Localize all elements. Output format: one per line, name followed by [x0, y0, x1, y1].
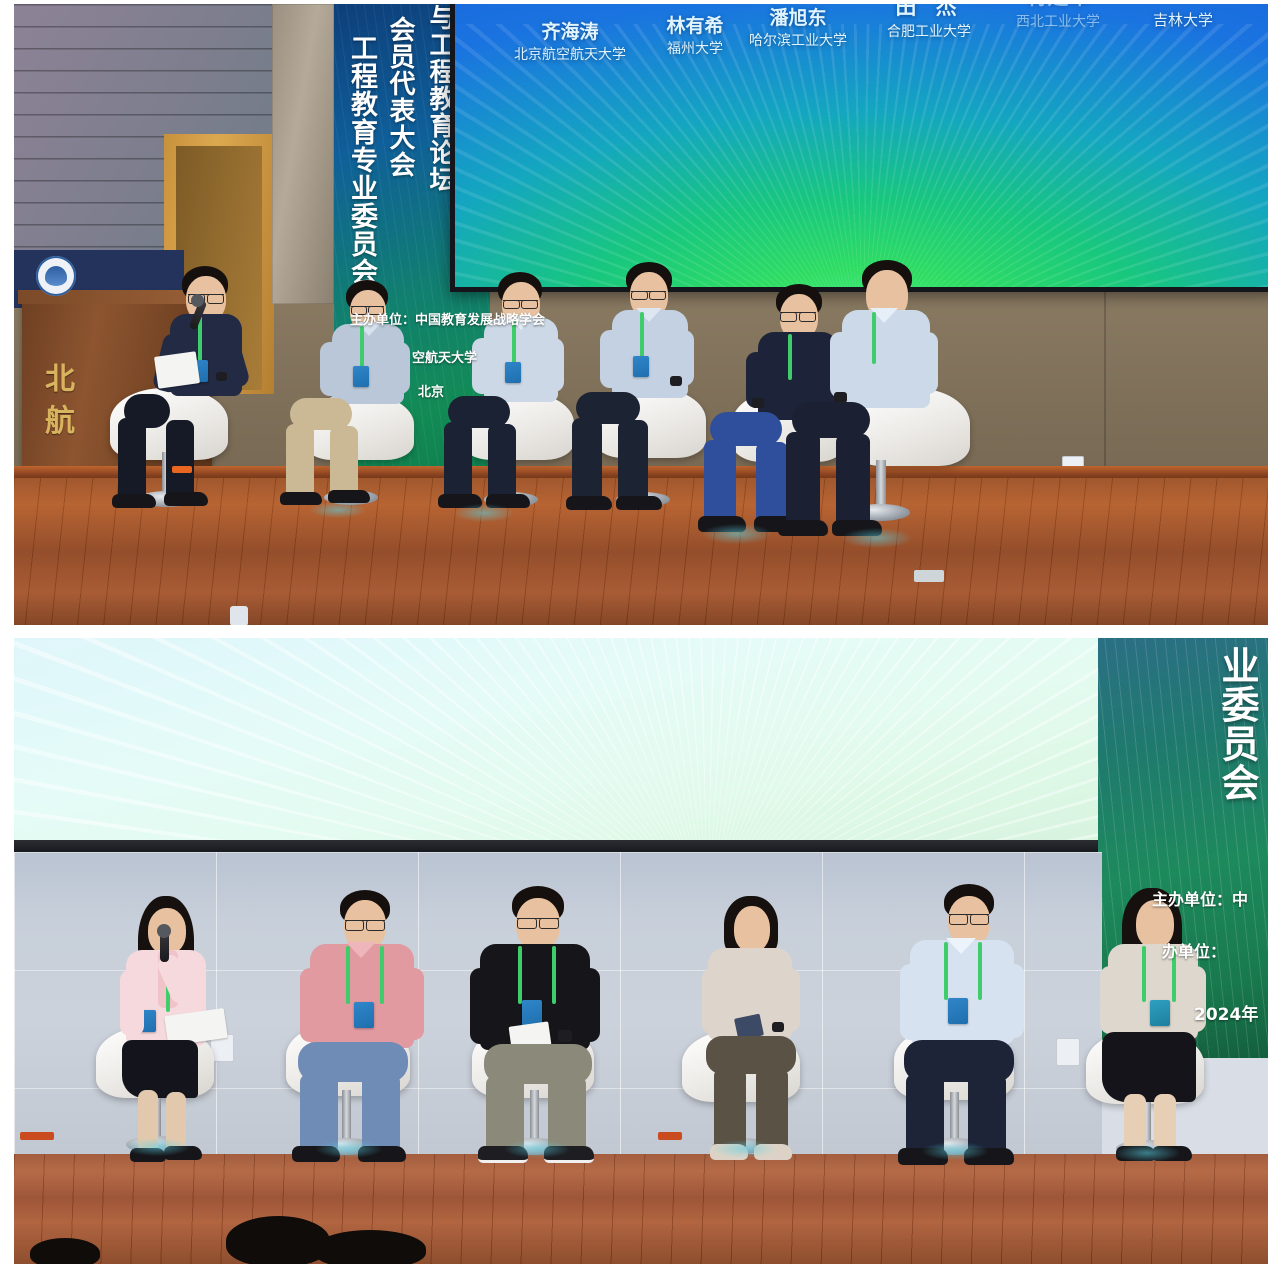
lower-leg [572, 418, 602, 502]
skirt [1102, 1032, 1196, 1102]
banner-host-line: 主办单位：中国教育发展战略学会 [350, 309, 545, 328]
arm [470, 968, 496, 1044]
wristwatch [670, 376, 682, 386]
glasses-icon [949, 914, 989, 925]
wall-outlet [1056, 1038, 1080, 1066]
arm [542, 338, 564, 392]
arm [914, 332, 938, 394]
floor-device [230, 606, 248, 625]
banner-column-1: 业委员会 [1210, 646, 1265, 802]
arm [600, 330, 624, 388]
projection-screen-washed [14, 638, 1124, 844]
floor-reflection [922, 1142, 988, 1160]
lower-leg [906, 1074, 944, 1154]
papers [154, 351, 200, 389]
arm [120, 970, 144, 1036]
shoe [112, 494, 156, 508]
lanyard [1142, 946, 1146, 1002]
arm [576, 968, 600, 1042]
wristwatch [772, 1022, 784, 1032]
projection-screen: 齐海涛 北京航空航天大学 林有希 福州大学 潘旭东 哈尔滨工业大学 田 杰 合肥… [450, 4, 1268, 292]
lower-leg [968, 1074, 1006, 1154]
shoe [778, 520, 828, 536]
arm [900, 964, 926, 1040]
floor-reflection [124, 1138, 190, 1156]
banner-column-1: 工程教育专业委员会 [342, 34, 381, 286]
wristwatch [558, 1030, 572, 1042]
lower-leg [1154, 1094, 1176, 1150]
speaker-entry: 吉林大学 [1123, 9, 1243, 30]
floor-reflection [454, 504, 514, 522]
banner-cohost-line: 办单位： [1162, 938, 1226, 962]
arm [1000, 964, 1024, 1038]
audience-head [226, 1216, 330, 1264]
head [734, 906, 770, 952]
floor-reflection [1114, 1144, 1180, 1162]
glasses-icon [503, 300, 538, 309]
floor-reflection [316, 1140, 382, 1158]
shoe [280, 492, 322, 505]
badge [633, 356, 649, 377]
lanyard [978, 942, 982, 1000]
chair-stem [950, 1092, 959, 1144]
floor-reflection [842, 528, 912, 548]
lanyard [380, 946, 384, 1004]
lower-leg [704, 440, 736, 522]
lower-leg [618, 420, 648, 502]
floor-reflection [702, 524, 772, 544]
glasses-icon [517, 918, 559, 929]
glasses-icon [631, 291, 666, 300]
lower-leg [118, 418, 146, 500]
stage-marker [20, 1132, 54, 1140]
projection-screen-surface: 齐海涛 北京航空航天大学 林有希 福州大学 潘旭东 哈尔滨工业大学 田 杰 合肥… [455, 4, 1268, 287]
speaker-entry: 田 杰 合肥工业大学 [859, 4, 999, 41]
floor-device [914, 570, 944, 582]
badge [505, 362, 521, 383]
glasses-icon [345, 920, 385, 931]
chair-stem [530, 1090, 539, 1144]
speaker-entry: 潘旭东 哈尔滨工业大学 [723, 4, 873, 50]
shoe [616, 496, 662, 510]
arm [702, 968, 724, 1034]
arm [320, 342, 344, 396]
banner-host-line: 主办单位：中 [1152, 886, 1248, 910]
dual-photo-composite: 北 航 工程教育专业委员会 会员代表大会 与工程教育论坛 主办单位：中国教育发展… [0, 0, 1268, 1268]
audience-head [30, 1238, 100, 1264]
badge [354, 1002, 374, 1028]
lectern-char-1: 北 [42, 354, 78, 398]
university-seal-icon [36, 256, 76, 296]
badge [353, 366, 369, 387]
banner-cohost-line: 空航天大学 [412, 347, 477, 366]
banner-column-2: 会员代表大会 [382, 16, 419, 178]
chair-stem [342, 1090, 351, 1144]
lower-leg [836, 434, 870, 526]
top-photo: 北 航 工程教育专业委员会 会员代表大会 与工程教育论坛 主办单位：中国教育发展… [14, 4, 1268, 625]
badge [1150, 1000, 1170, 1026]
stone-pier [272, 4, 334, 304]
lower-leg [362, 1074, 400, 1152]
audience-head [314, 1230, 426, 1264]
microphone-head [157, 924, 171, 938]
arm [830, 332, 856, 398]
stage-marker [658, 1132, 682, 1140]
glasses-icon [780, 312, 816, 322]
stage-floor-reflective [14, 1154, 1268, 1264]
banner-date-line: 2024年 [1194, 1000, 1258, 1025]
lanyard [360, 326, 364, 370]
banner-city-line: 北京 [418, 381, 444, 400]
lanyard [640, 312, 644, 360]
lower-leg [330, 426, 358, 498]
speaker-entry: 蒋建军 西北工业大学 [983, 4, 1133, 31]
wristwatch [752, 398, 764, 408]
lanyard [346, 946, 350, 1004]
lower-leg [714, 1068, 746, 1150]
arm [1100, 966, 1124, 1034]
arm [388, 342, 410, 394]
badge [948, 998, 968, 1024]
lanyard [518, 946, 522, 1004]
lower-leg [1124, 1094, 1146, 1150]
screen-light-rays [14, 638, 1124, 844]
skirt [122, 1040, 198, 1098]
lanyard [552, 946, 556, 1004]
lanyard [944, 942, 948, 1000]
lower-leg [488, 424, 516, 500]
lower-leg [786, 432, 820, 526]
shoe [566, 496, 612, 510]
bottom-photo: 业委员会 主办单位：中 办单位： 2024年 [14, 638, 1268, 1264]
lower-leg [444, 422, 472, 500]
lower-leg [756, 1068, 788, 1150]
lectern-char-2: 航 [42, 396, 78, 440]
lower-leg [166, 420, 194, 498]
lower-leg [286, 424, 314, 498]
speaker-entry: 齐海涛 北京航空航天大学 [495, 17, 645, 64]
floor-reflection [310, 502, 366, 518]
floor-reflection [504, 1140, 570, 1158]
floor-reflection [712, 1140, 776, 1158]
arm [300, 968, 326, 1042]
microphone-head [191, 294, 204, 307]
arm [400, 968, 424, 1040]
wristwatch [216, 372, 227, 381]
shoe [164, 492, 208, 506]
stage-marker [172, 466, 192, 473]
lower-leg [756, 442, 788, 522]
lanyard [872, 312, 876, 364]
chair-stem [876, 460, 886, 510]
lanyard [788, 334, 792, 380]
